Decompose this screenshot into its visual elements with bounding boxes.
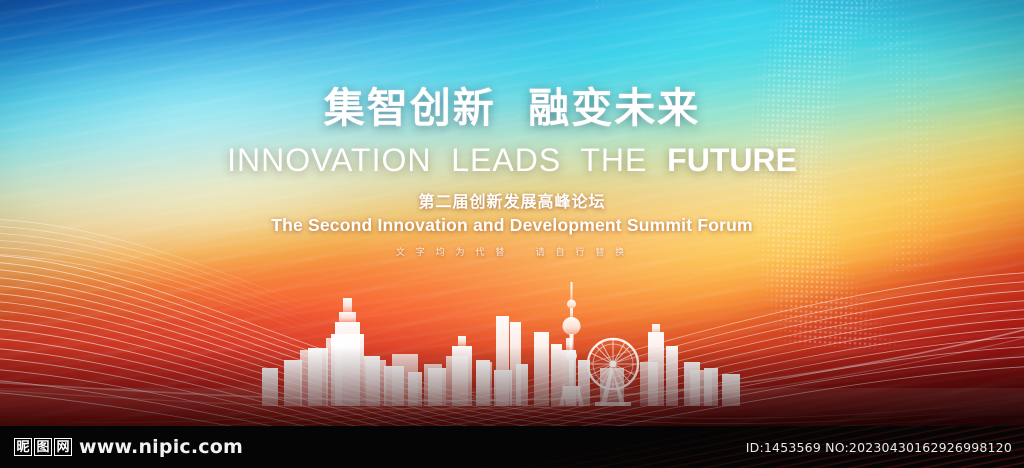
watermark-footer: 昵 图 网 www.nipic.com ID:1453569 NO:202304…: [0, 426, 1024, 468]
subtitle-cn: 第二届创新发展高峰论坛: [0, 188, 1024, 212]
asset-id-meta: ID:1453569 NO:20230430162926998120: [746, 440, 1012, 455]
placeholder-note: 文 字 均 为 代 替 请 自 行 替 换: [0, 245, 1024, 258]
poster-canvas: 集智创新 融变未来 INNOVATION LEADS THE FUTURE 第二…: [0, 0, 1024, 468]
brand-char-1: 昵: [14, 438, 32, 456]
headline-block: 集智创新 融变未来 INNOVATION LEADS THE FUTURE 第二…: [0, 84, 1024, 258]
brand-char-3: 网: [54, 438, 72, 456]
page-title-en: INNOVATION LEADS THE FUTURE: [0, 143, 1024, 178]
brand-url[interactable]: www.nipic.com: [79, 436, 243, 458]
brand-char-2: 图: [34, 438, 52, 456]
page-title-en-light: INNOVATION LEADS THE: [227, 142, 667, 178]
brand-mark-icon: 昵 图 网: [14, 438, 72, 456]
page-title-cn: 集智创新 融变未来: [0, 84, 1024, 132]
brand-logo[interactable]: 昵 图 网 www.nipic.com: [14, 436, 243, 458]
subtitle-en: The Second Innovation and Development Su…: [0, 215, 1024, 236]
page-title-en-bold: FUTURE: [667, 142, 797, 178]
